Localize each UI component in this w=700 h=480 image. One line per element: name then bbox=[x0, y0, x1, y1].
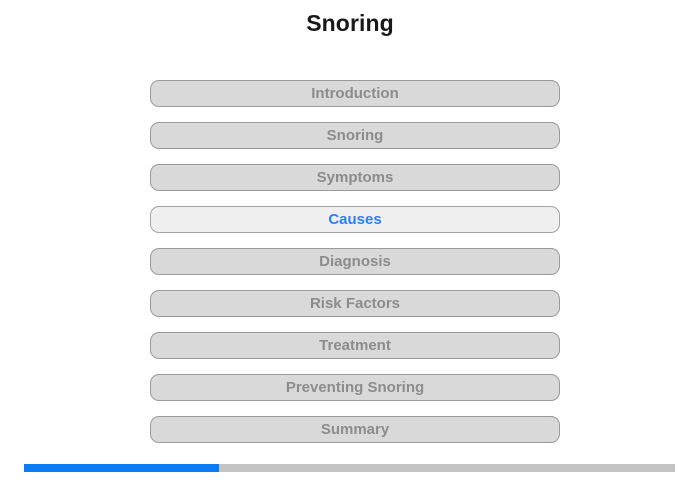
nav-item-label: Snoring bbox=[327, 127, 384, 144]
nav-item-label: Treatment bbox=[319, 337, 391, 354]
nav-item-causes[interactable]: Causes bbox=[150, 206, 560, 233]
nav-item-label: Introduction bbox=[311, 85, 398, 102]
nav-item-preventing-snoring[interactable]: Preventing Snoring bbox=[150, 374, 560, 401]
progress-bar-fill bbox=[24, 464, 219, 472]
nav-item-label: Symptoms bbox=[317, 169, 394, 186]
nav-item-label: Summary bbox=[321, 421, 389, 438]
nav-item-treatment[interactable]: Treatment bbox=[150, 332, 560, 359]
nav-item-snoring[interactable]: Snoring bbox=[150, 122, 560, 149]
slide-page: Snoring Introduction Snoring Symptoms Ca… bbox=[0, 0, 700, 480]
nav-item-label: Risk Factors bbox=[310, 295, 400, 312]
nav-item-summary[interactable]: Summary bbox=[150, 416, 560, 443]
nav-item-diagnosis[interactable]: Diagnosis bbox=[150, 248, 560, 275]
nav-item-label: Causes bbox=[328, 211, 381, 228]
nav-item-introduction[interactable]: Introduction bbox=[150, 80, 560, 107]
nav-item-symptoms[interactable]: Symptoms bbox=[150, 164, 560, 191]
nav-item-label: Diagnosis bbox=[319, 253, 391, 270]
progress-bar-track[interactable] bbox=[24, 464, 675, 472]
section-nav-list: Introduction Snoring Symptoms Causes Dia… bbox=[150, 80, 560, 443]
nav-item-label: Preventing Snoring bbox=[286, 379, 424, 396]
page-title: Snoring bbox=[0, 9, 700, 38]
nav-item-risk-factors[interactable]: Risk Factors bbox=[150, 290, 560, 317]
